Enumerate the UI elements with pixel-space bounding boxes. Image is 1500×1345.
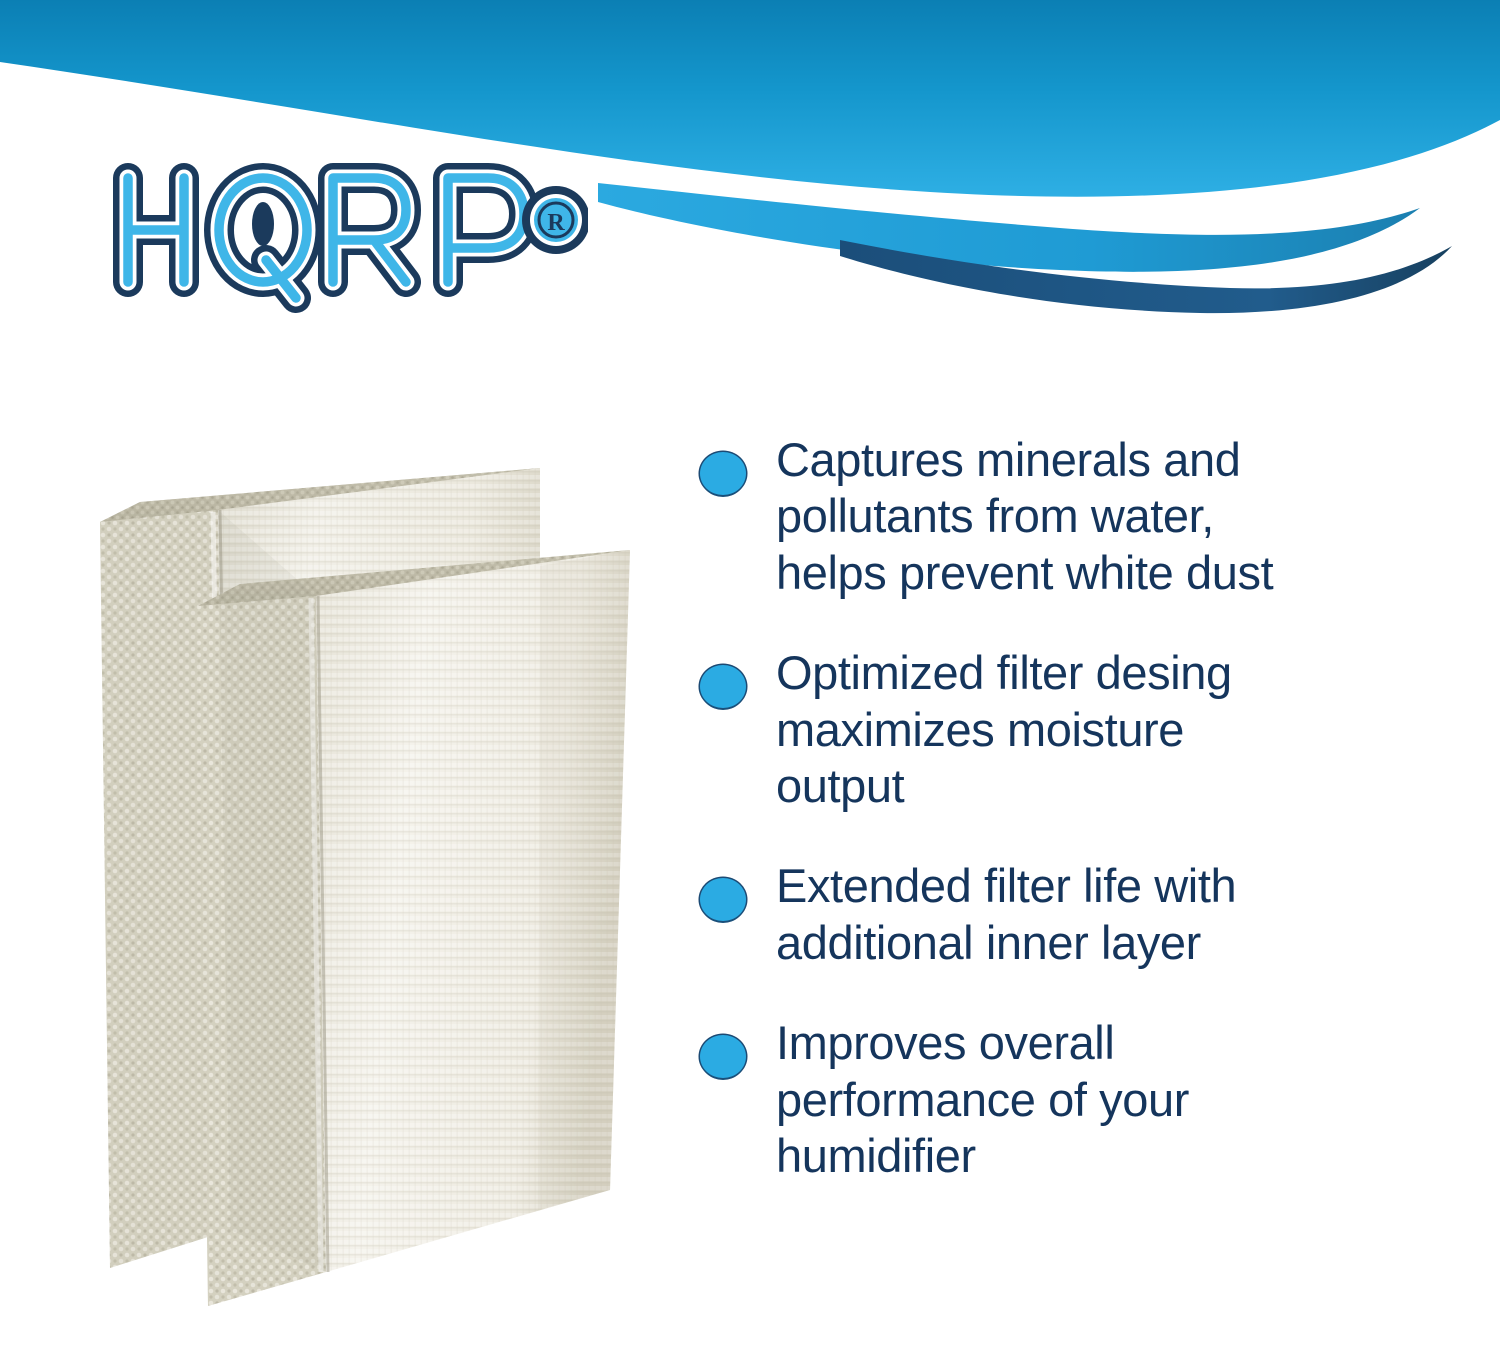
product-image-wick-filters [70, 430, 690, 1310]
bullet-dot-icon [700, 452, 746, 495]
feature-text: Improves overall performance of your hum… [776, 1015, 1440, 1184]
wave-band-secondary [598, 183, 1420, 272]
bullet-dot-icon [700, 1035, 746, 1078]
feature-item-improves-performance: Improves overall performance of your hum… [700, 1015, 1440, 1184]
feature-text: Captures minerals and pollutants from wa… [776, 432, 1440, 601]
product-feature-infographic: R [0, 0, 1500, 1345]
wave-band-accent [840, 240, 1452, 313]
feature-text: Extended filter life with additional inn… [776, 858, 1440, 971]
feature-benefits-list: Captures minerals and pollutants from wa… [700, 432, 1440, 1184]
svg-text:R: R [547, 210, 565, 236]
bullet-dot-icon [700, 878, 746, 921]
hqrp-logo: R [88, 150, 588, 320]
feature-item-extended-life: Extended filter life with additional inn… [700, 858, 1440, 971]
bullet-dot-icon [700, 665, 746, 708]
feature-item-optimized-design: Optimized filter desing maximizes moistu… [700, 645, 1440, 814]
feature-text: Optimized filter desing maximizes moistu… [776, 645, 1440, 814]
feature-item-captures-minerals: Captures minerals and pollutants from wa… [700, 432, 1440, 601]
